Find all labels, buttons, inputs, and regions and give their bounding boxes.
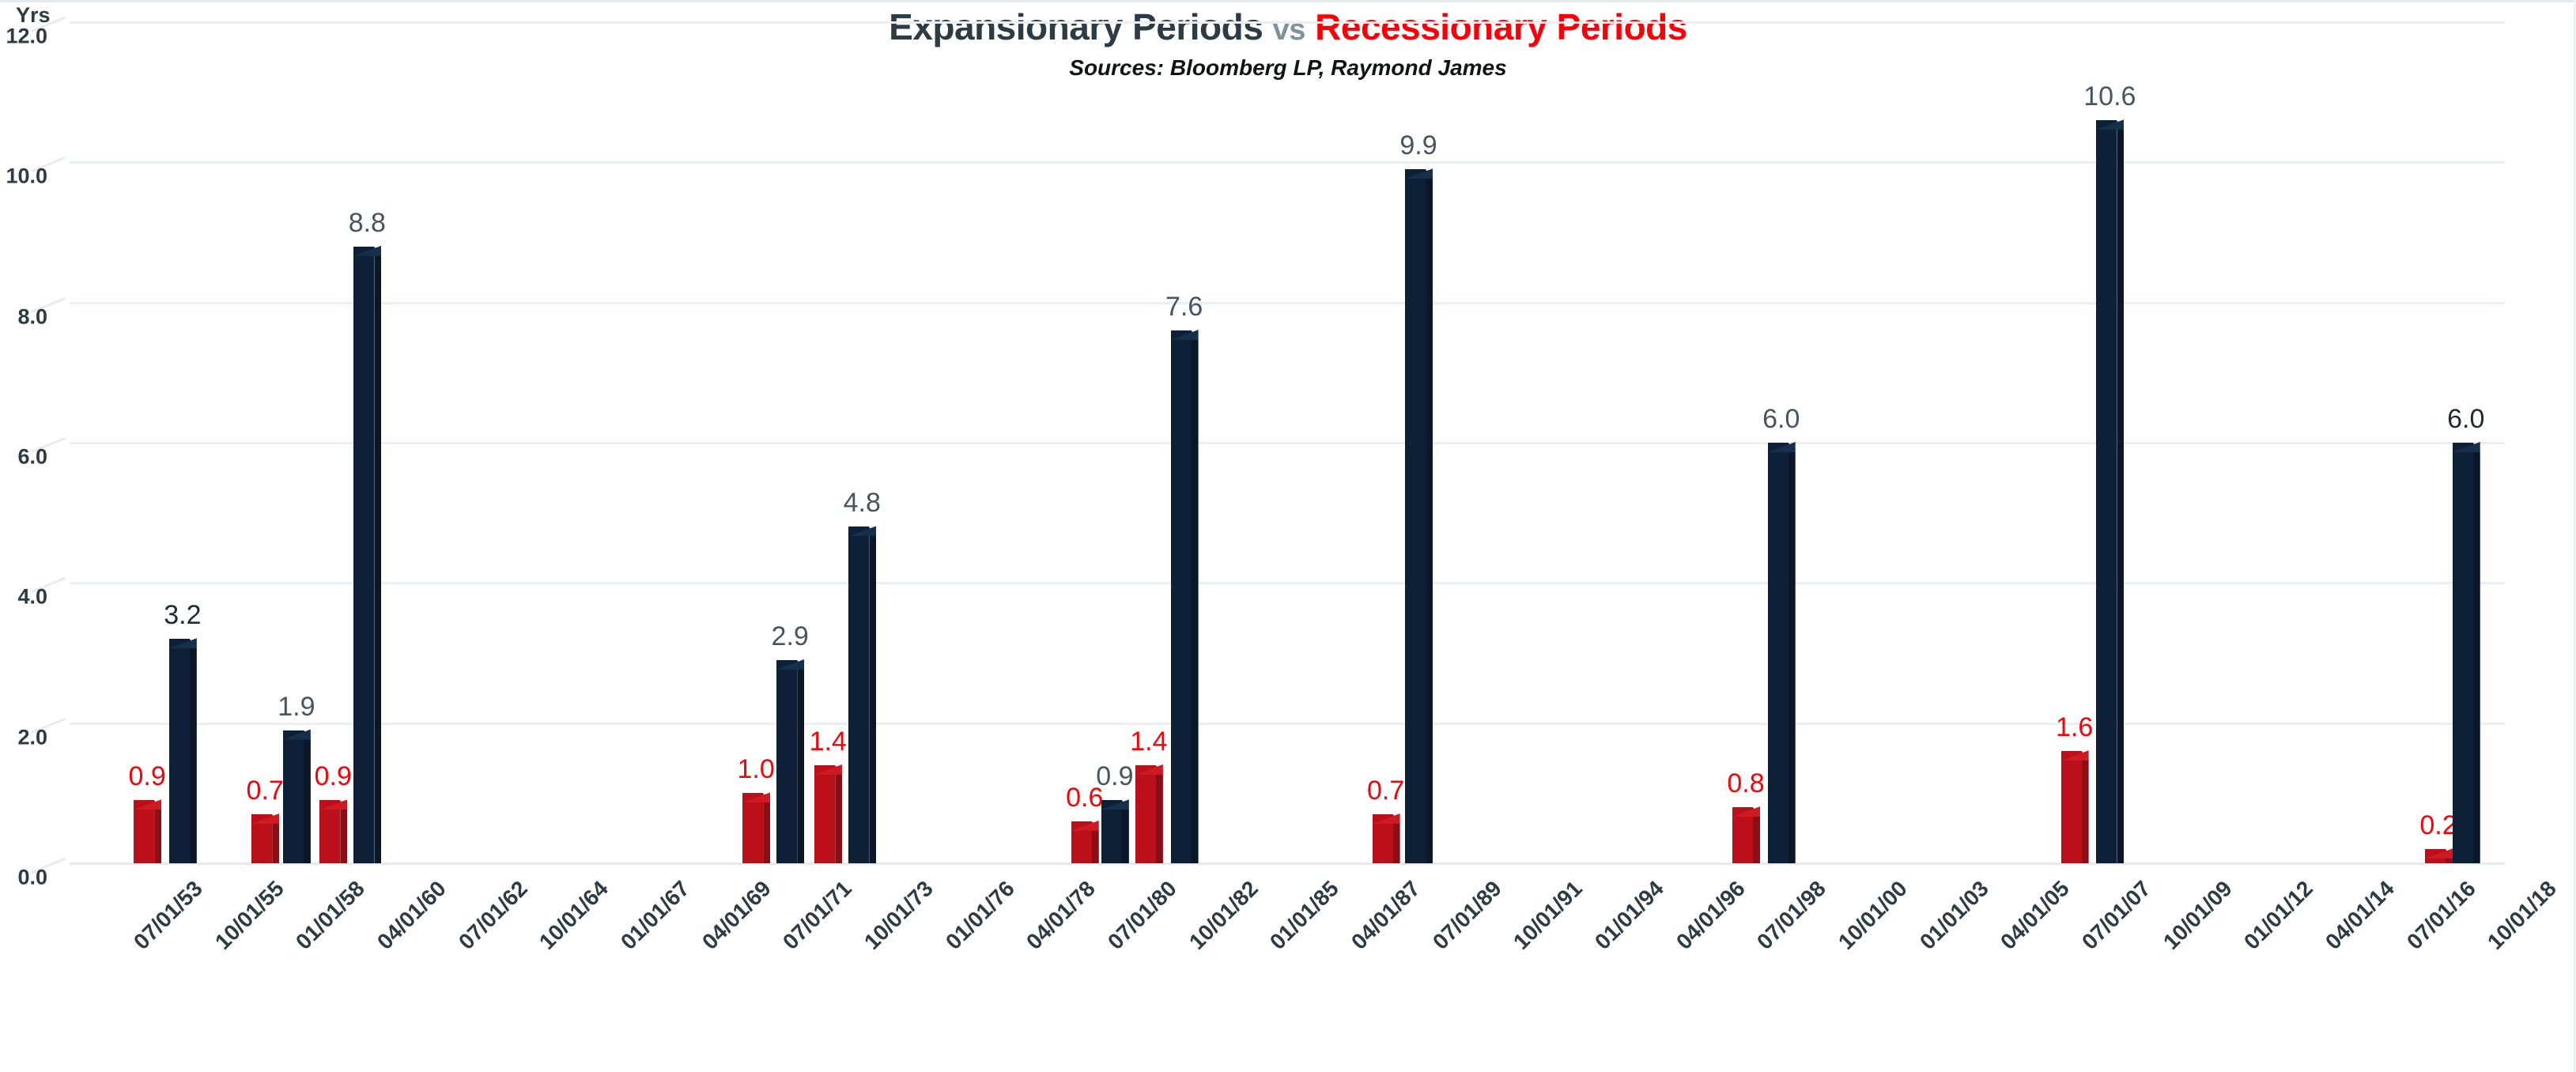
bar-value-label: 6.0 [2447,404,2484,435]
bar-value-label: 2.9 [772,621,809,652]
bar-value-label: 4.8 [844,488,881,519]
bar-recessionary [2061,751,2082,863]
bar-face [1171,330,1192,863]
bar-value-label: 1.9 [278,692,315,723]
bar-recessionary [251,814,272,863]
gridline [70,863,2505,865]
x-axis-tick-label: 07/01/89 [1428,876,1507,955]
x-axis-tick-labels: 07/01/5310/01/5501/01/5804/01/6007/01/62… [70,870,2505,1067]
bar-side-shade [2117,120,2124,863]
bar-recessionary [2425,849,2446,863]
chart-container: Yrs Expansionary Periods vs Recessionary… [0,0,2576,1072]
bar-face [1405,169,1426,863]
y-axis-tick-label: 4.0 [0,585,47,610]
top-divider [0,0,2576,2]
x-axis-tick-label: 04/01/87 [1347,876,1426,955]
x-axis-tick-label: 10/01/82 [1184,876,1263,955]
x-axis-tick-label: 01/01/58 [291,876,370,955]
bar-face [2096,120,2117,863]
bar-side-shade [304,730,311,863]
x-axis-tick-label: 01/01/03 [1915,876,1994,955]
bar-value-label: 1.4 [810,727,847,757]
bar-expansionary [848,527,869,863]
x-axis-tick-label: 07/01/71 [778,876,857,955]
bar-side-shade [869,527,876,863]
bar-side-shade [2082,751,2089,863]
bar-side-shade [374,247,381,863]
x-axis-tick-label: 07/01/62 [454,876,533,955]
bar-value-label: 8.8 [349,208,386,239]
bar-face [1768,443,1788,863]
plot-area: 12.010.08.06.04.02.00.00.93.20.71.90.98.… [70,22,2505,863]
bar-expansionary [283,730,304,863]
bar-expansionary [169,639,190,863]
x-axis-tick-label: 01/01/85 [1265,876,1344,955]
gridline [70,21,2505,24]
bar-face [776,660,797,863]
bar-recessionary [319,800,340,863]
gridline [70,582,2505,584]
bar-recessionary [134,800,154,863]
bar-side-shade [1192,330,1199,863]
bar-value-label: 0.9 [315,761,352,792]
x-axis-tick-label: 07/01/98 [1752,876,1831,955]
bar-value-label: 0.9 [128,761,165,792]
bar-value-label: 6.0 [1762,404,1800,435]
x-axis-tick-label: 10/01/18 [2483,876,2562,955]
bar-face [1135,765,1156,863]
bar-side-shade [1426,169,1433,863]
bar-expansionary [2453,443,2473,863]
x-axis-tick-label: 04/01/60 [372,876,451,955]
bar-side-shade [763,793,770,863]
bar-expansionary [353,247,374,863]
y-axis-tick-label: 8.0 [0,304,47,329]
x-axis-tick-label: 10/01/73 [859,876,939,955]
x-axis-tick-label: 07/01/07 [2077,876,2156,955]
bar-expansionary [2096,120,2117,863]
x-axis-tick-label: 01/01/67 [616,876,695,955]
x-axis-tick-label: 10/01/64 [534,876,614,955]
bar-value-label: 0.8 [1727,768,1764,799]
gridline [70,302,2505,304]
x-axis-tick-label: 04/01/05 [1996,876,2075,955]
x-axis-tick-label: 10/01/09 [2159,876,2238,955]
y-axis-tick-label: 2.0 [0,725,47,749]
bar-recessionary [814,765,835,863]
bar-expansionary [1171,330,1192,863]
x-axis-tick-label: 04/01/69 [697,876,776,955]
bar-recessionary [1732,807,1753,863]
bar-face [283,730,304,863]
y-axis-tick-label: 6.0 [0,445,47,470]
x-axis-tick-label: 07/01/80 [1103,876,1182,955]
y-axis-tick-label: 0.0 [0,866,47,890]
gridline [70,723,2505,725]
bar-side-shade [2473,443,2480,863]
bar-value-label: 1.6 [2056,712,2093,743]
bar-value-label: 0.7 [247,776,284,806]
bar-face [2453,443,2473,863]
x-axis-tick-label: 10/01/91 [1509,876,1588,955]
bar-face [353,247,374,863]
bar-expansionary [1101,800,1122,863]
bar-side-shade [835,765,842,863]
bar-value-label: 9.9 [1399,130,1437,161]
x-axis-tick-label: 01/01/76 [941,876,1020,955]
bar-expansionary [776,660,797,863]
bar-value-label: 1.0 [737,754,774,785]
bar-value-label: 3.2 [164,600,201,631]
bar-face [2061,751,2082,863]
bar-side-shade [797,660,804,863]
bar-value-label: 10.6 [2083,81,2136,112]
x-axis-tick-label: 07/01/16 [2402,876,2481,955]
bar-value-label: 0.9 [1096,761,1133,792]
bar-expansionary [1405,169,1426,863]
y-axis-tick-label: 12.0 [0,25,47,49]
bar-side-shade [1156,765,1163,863]
x-axis-tick-label: 07/01/53 [129,876,208,955]
bar-value-label: 1.4 [1130,727,1167,757]
bar-face [169,639,190,863]
x-axis-tick-label: 01/01/94 [1590,876,1669,955]
x-axis-tick-label: 10/01/55 [210,876,289,955]
x-axis-tick-label: 01/01/12 [2239,876,2318,955]
x-axis-tick-label: 04/01/14 [2321,876,2400,955]
x-axis-tick-label: 10/01/00 [1834,876,1913,955]
bar-side-shade [190,639,197,863]
bar-expansionary [1768,443,1788,863]
bar-value-label: 0.2 [2419,810,2457,841]
gridline [70,161,2505,164]
bar-side-shade [1788,443,1796,863]
gridline [70,442,2505,444]
bar-recessionary [1135,765,1156,863]
x-axis-tick-label: 04/01/96 [1671,876,1751,955]
bar-value-label: 0.7 [1367,776,1404,806]
bar-recessionary [742,793,763,863]
y-axis-tick-label: 10.0 [0,164,47,189]
bar-recessionary [1373,814,1393,863]
bar-face [848,527,869,863]
bar-recessionary [1071,821,1092,863]
bar-face [814,765,835,863]
bar-value-label: 7.6 [1165,292,1203,323]
x-axis-tick-label: 04/01/78 [1022,876,1101,955]
bar-face [742,793,763,863]
